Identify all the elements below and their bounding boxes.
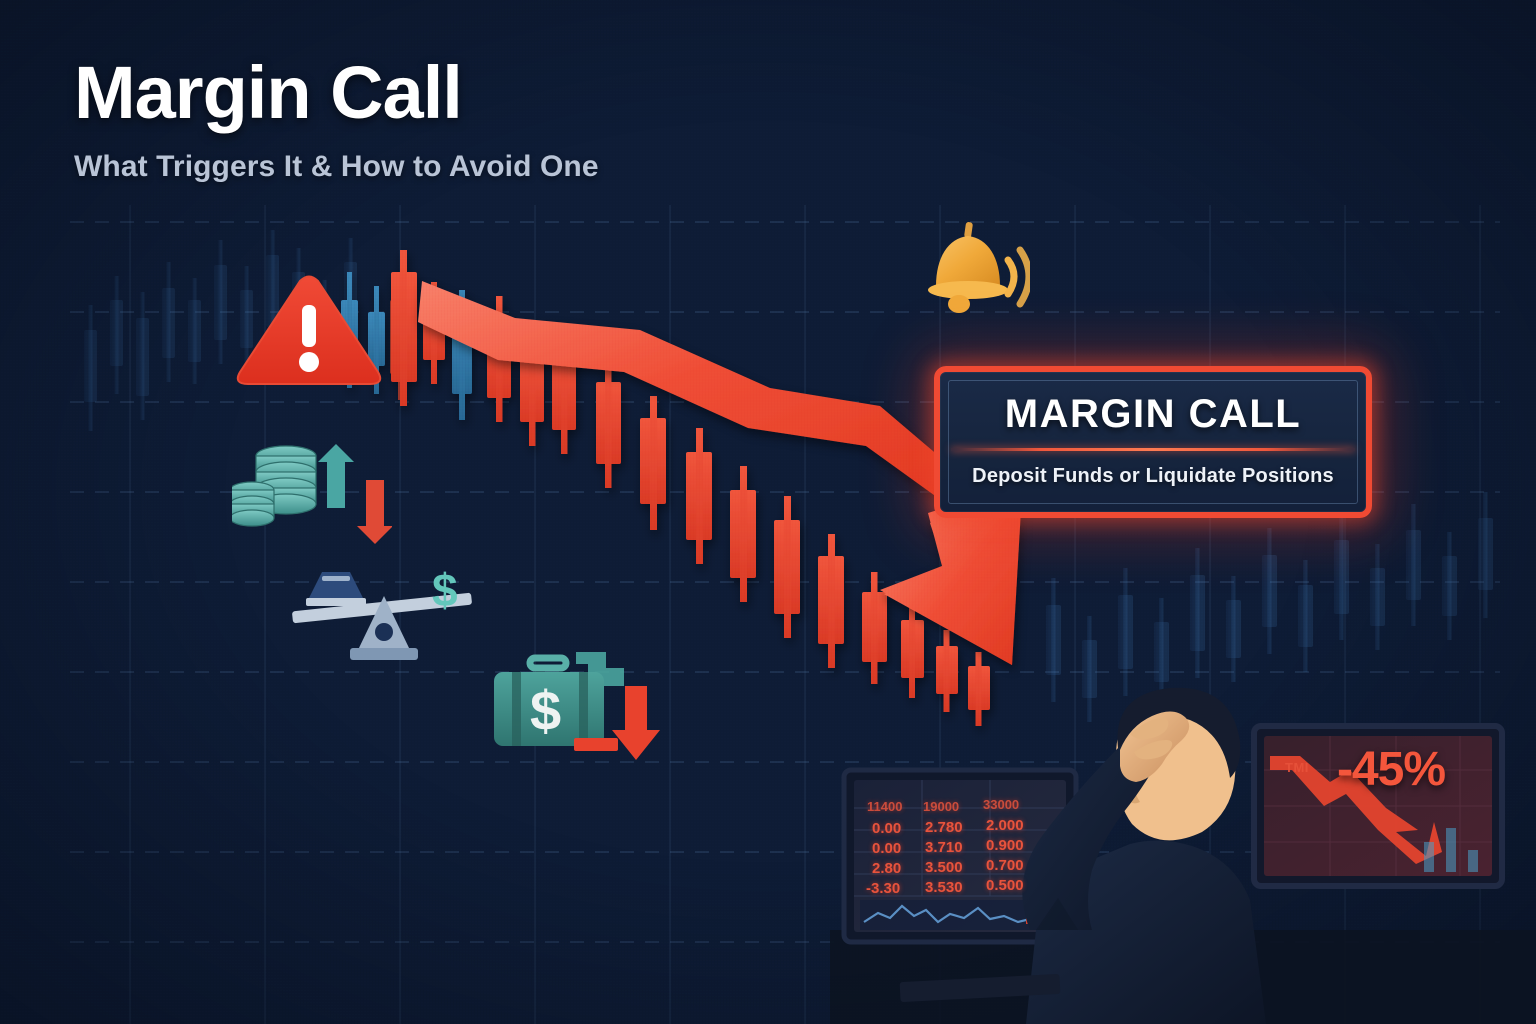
- page-subtitle: What Triggers It & How to Avoid One: [74, 150, 599, 184]
- header-block: Margin Call What Triggers It & How to Av…: [74, 56, 599, 184]
- svg-text:$: $: [432, 564, 458, 616]
- balance-scale-icon: $: [284, 558, 490, 670]
- ticker-tag-label: TMI: [1285, 760, 1309, 775]
- terminal-cell: 3.530: [925, 879, 963, 896]
- coin-stack-icon: [232, 438, 392, 550]
- infographic-canvas: Margin Call What Triggers It & How to Av…: [0, 0, 1536, 1024]
- warning-triangle-icon: [234, 272, 384, 390]
- banner-subtitle-row: Deposit Funds or Liquidate Positions: [949, 451, 1357, 503]
- terminal-col-header-2: 33000: [983, 797, 1019, 812]
- briefcase-icon: $: [484, 642, 670, 770]
- percent-change-label: -45%: [1337, 742, 1445, 797]
- terminal-cell: 0.500: [986, 877, 1024, 894]
- terminal-cell: 2.80: [872, 860, 901, 877]
- svg-text:$: $: [530, 679, 561, 742]
- page-title: Margin Call: [74, 56, 599, 130]
- terminal-cell: 0.00: [872, 820, 901, 837]
- terminal-col-header-1: 19000: [923, 799, 959, 814]
- terminal-cell: 0.900: [986, 837, 1024, 854]
- terminal-cell: 3.710: [925, 839, 963, 856]
- terminal-col-header-0: 11400: [867, 799, 902, 814]
- terminal-cell: 0.00: [872, 840, 901, 857]
- banner-subtitle: Deposit Funds or Liquidate Positions: [972, 465, 1334, 488]
- banner-inner-frame: MARGIN CALL Deposit Funds or Liquidate P…: [948, 380, 1358, 504]
- alert-bell-icon: [912, 212, 1030, 324]
- terminal-cell: 0.700: [986, 857, 1024, 874]
- terminal-cell: 2.780: [925, 819, 963, 836]
- banner-title-row: MARGIN CALL: [949, 381, 1357, 448]
- terminal-cell: -3.30: [866, 880, 900, 897]
- terminal-cell: 2.000: [986, 817, 1024, 834]
- downtrend-arrow: [418, 281, 1022, 665]
- trader-figure: [1022, 688, 1266, 1024]
- banner-title: MARGIN CALL: [1005, 392, 1301, 437]
- scale-weight: [306, 572, 366, 606]
- terminal-cell: 3.500: [925, 859, 963, 876]
- margin-call-banner: MARGIN CALL Deposit Funds or Liquidate P…: [934, 366, 1372, 518]
